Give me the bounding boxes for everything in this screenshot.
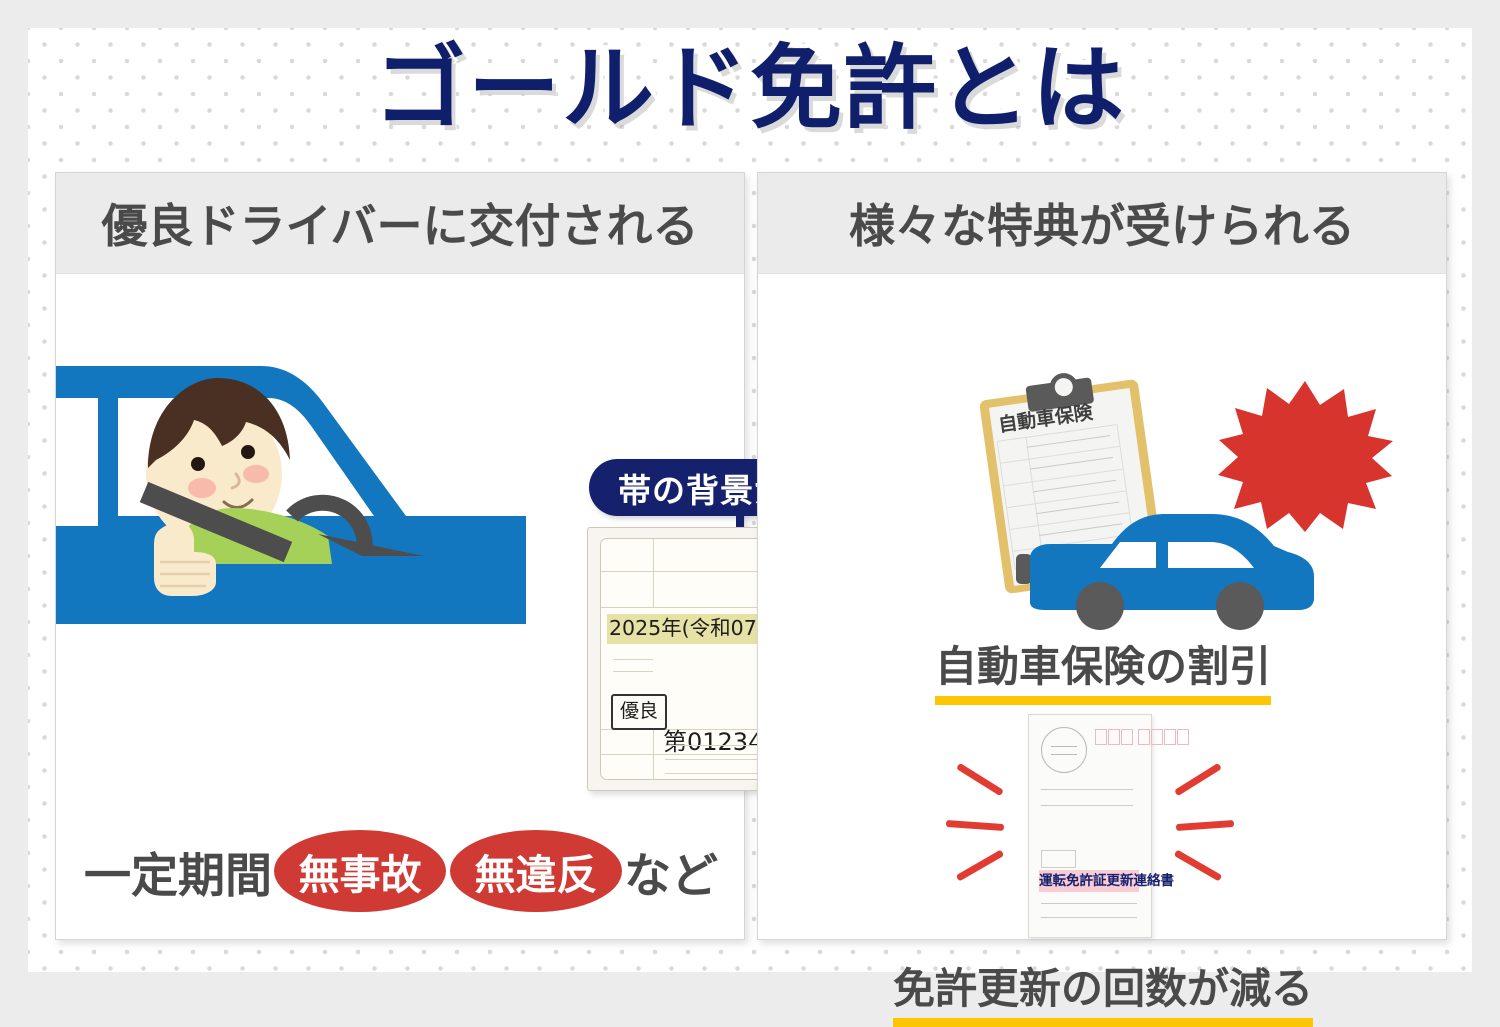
infographic-stage: ゴールド免許とは 優良ドライバーに交付される xyxy=(0,0,1500,1000)
ray-line xyxy=(1176,820,1234,831)
panel-left-header-text: 優良ドライバーに交付される xyxy=(101,190,698,256)
postal-box xyxy=(1095,729,1107,745)
license-dash xyxy=(613,659,653,660)
letter-line xyxy=(1041,805,1133,806)
page-title-wrap: ゴールド免許とは xyxy=(0,38,1500,144)
off-badge-text: OFF xyxy=(758,274,933,429)
postal-box xyxy=(1177,729,1189,745)
panel-left-body: 帯の背景が金色 2025年(令和 xyxy=(56,274,744,940)
benefit-2-caption-wrap: 免許更新の回数が減る xyxy=(758,964,1448,1027)
ray-line xyxy=(956,763,1004,796)
bottom-suffix: など xyxy=(624,837,718,906)
driver-in-car-illustration xyxy=(56,356,526,636)
license-rank-badge: 優良 xyxy=(611,694,667,730)
benefit-1-caption-wrap: 自動車保険の割引 xyxy=(758,642,1448,705)
panel-right: 様々な特典が受けられる 自動車保険 xyxy=(757,172,1447,940)
license-dash xyxy=(613,671,653,672)
panel-right-body: 自動車保険 OFF xyxy=(758,274,1446,940)
postal-box xyxy=(1164,729,1176,745)
blue-car-illustration xyxy=(1016,506,1326,636)
postmark-icon xyxy=(1041,727,1087,773)
license-dash xyxy=(665,745,761,746)
letter-line xyxy=(1041,903,1137,904)
panel-right-header: 様々な特典が受けられる xyxy=(758,173,1446,274)
bottom-prefix: 一定期間 xyxy=(84,837,272,906)
page-title: ゴールド免許とは xyxy=(374,38,1126,140)
benefit-2-caption: 免許更新の回数が減る xyxy=(893,964,1313,1027)
ray-line xyxy=(1174,849,1223,881)
postal-box xyxy=(1138,729,1150,745)
license-vline xyxy=(653,539,654,571)
ray-line xyxy=(956,849,1005,881)
postal-box xyxy=(1108,729,1120,745)
license-renewal-notice-illustration: 運転免許証更新連絡書 xyxy=(1028,714,1152,938)
letter-line xyxy=(1041,789,1133,790)
badge-no-accident: 無事故 xyxy=(274,830,446,912)
ray-line xyxy=(1174,763,1222,796)
ray-line xyxy=(946,820,1004,831)
benefit-1-caption: 自動車保険の割引 xyxy=(935,642,1271,705)
letter-small-box xyxy=(1041,850,1076,868)
panel-left: 優良ドライバーに交付される xyxy=(55,172,745,940)
postal-code-boxes xyxy=(1095,729,1189,745)
renewal-notice-label: 運転免許証更新連絡書 xyxy=(1039,870,1139,892)
left-bottom-line: 一定期間 無事故 無違反 など xyxy=(56,826,746,916)
panel-right-header-text: 様々な特典が受けられる xyxy=(849,190,1355,256)
license-dash xyxy=(665,759,761,760)
panel-left-header: 優良ドライバーに交付される xyxy=(56,173,744,274)
license-dash xyxy=(665,773,761,774)
postal-box xyxy=(1121,729,1133,745)
badge-no-violation: 無違反 xyxy=(450,830,622,912)
license-vline xyxy=(653,572,654,607)
postal-box xyxy=(1151,729,1163,745)
postal-gap xyxy=(1134,729,1137,743)
letter-line xyxy=(1041,917,1137,918)
